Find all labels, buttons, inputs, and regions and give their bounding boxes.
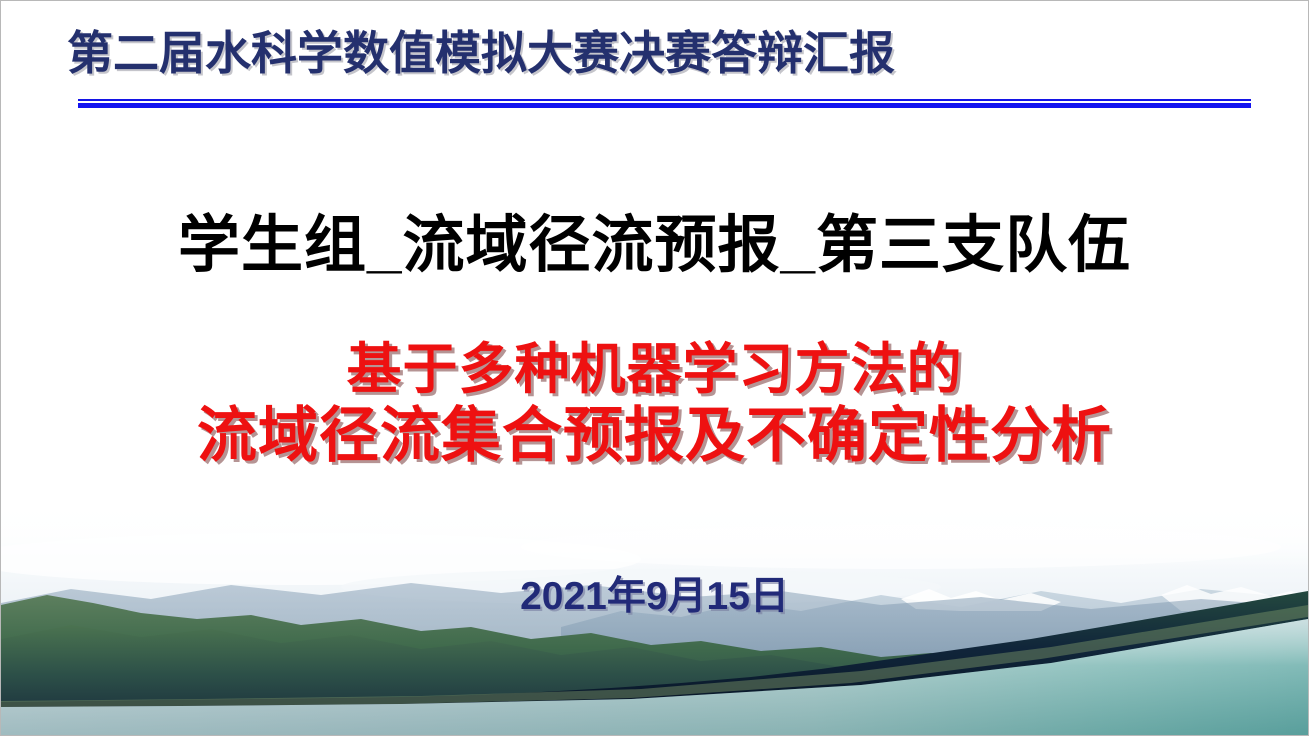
divider-line-thin [78, 99, 1251, 101]
divider-line-thick [78, 103, 1251, 108]
main-title-line-1: 基于多种机器学习方法的 [1, 340, 1308, 399]
header-divider-rule [78, 99, 1251, 108]
photo-top-fade [1, 499, 1308, 569]
team-title-line: 学生组_流域径流预报_第三支队伍 [1, 210, 1308, 281]
slide-header-title: 第二届水科学数值模拟大赛决赛答辩汇报 [67, 25, 895, 83]
presentation-slide: 第二届水科学数值模拟大赛决赛答辩汇报 [0, 0, 1309, 736]
main-title: 基于多种机器学习方法的 流域径流集合预报及不确定性分析 [1, 340, 1308, 469]
main-title-line-2: 流域径流集合预报及不确定性分析 [1, 404, 1308, 469]
presentation-date: 2021年9月15日 [1, 565, 1308, 621]
